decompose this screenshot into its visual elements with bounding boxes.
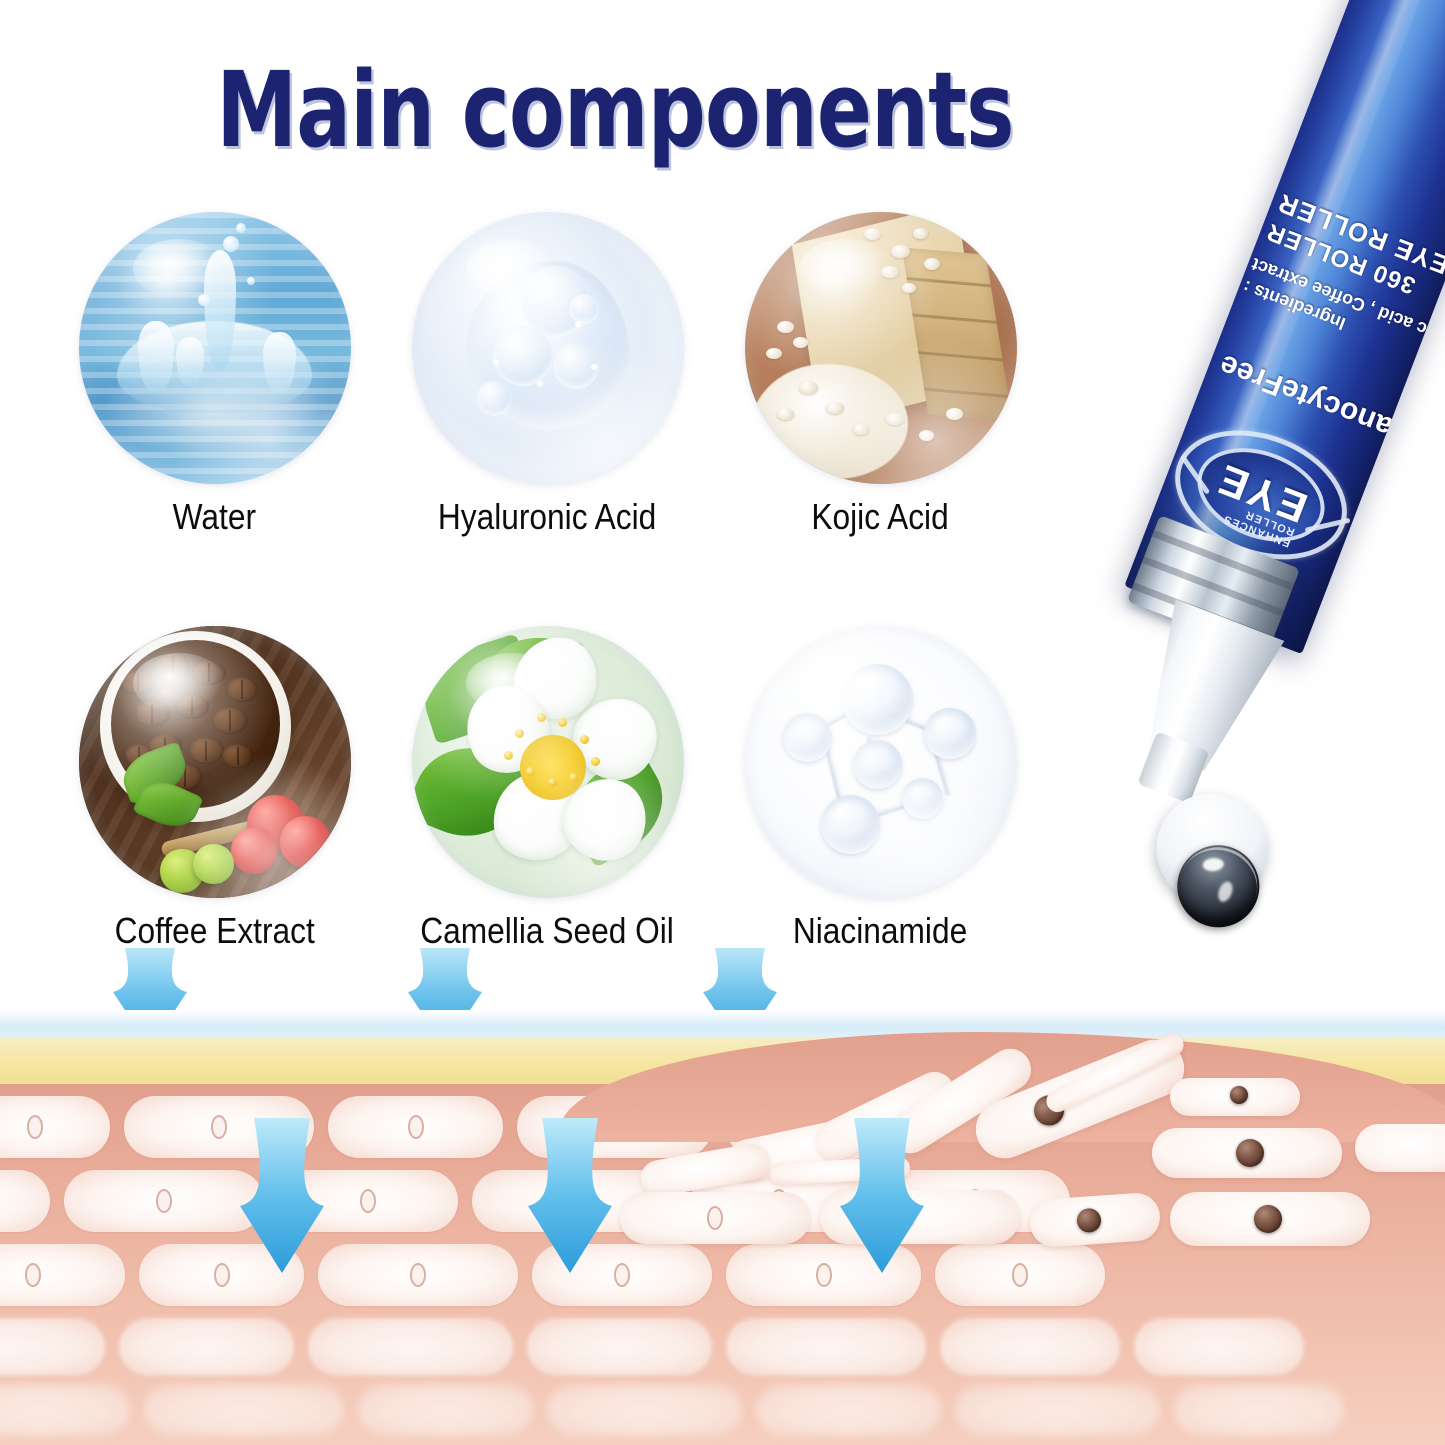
ingredient-grid: Water bbox=[48, 212, 1048, 952]
dermis-layer bbox=[0, 1084, 1445, 1445]
disordered-cell bbox=[1170, 1192, 1370, 1246]
ingredient-item-camellia-seed-oil[interactable]: Camellia Seed Oil bbox=[381, 626, 714, 952]
melanin-spot bbox=[1230, 1086, 1248, 1104]
ingredient-item-hyaluronic-acid[interactable]: Hyaluronic Acid bbox=[381, 212, 714, 538]
penetration-arrow-deep-3 bbox=[828, 1118, 938, 1278]
ingredient-row-2: Coffee Extract bbox=[48, 626, 1048, 952]
ingredient-label: Camellia Seed Oil bbox=[421, 910, 675, 952]
skin-cross-section-diagram bbox=[0, 1010, 1445, 1445]
ingredient-item-water[interactable]: Water bbox=[48, 212, 381, 538]
disordered-cell bbox=[620, 1192, 810, 1244]
ingredient-label: Hyaluronic Acid bbox=[438, 496, 656, 538]
gel-droplet-bubble bbox=[412, 212, 684, 484]
ingredient-label: Coffee Extract bbox=[114, 910, 314, 952]
melanin-spot bbox=[1236, 1139, 1264, 1167]
cell-row bbox=[0, 1384, 1344, 1436]
camellia-flower-bubble bbox=[412, 626, 684, 898]
applicator-neck bbox=[1102, 598, 1288, 825]
ingredient-row-1: Water bbox=[48, 212, 1048, 538]
ingredient-item-coffee-extract[interactable]: Coffee Extract bbox=[48, 626, 381, 952]
disordered-cell bbox=[1170, 1078, 1300, 1116]
penetration-arrow-deep-2 bbox=[516, 1118, 626, 1278]
disordered-cell bbox=[1152, 1128, 1342, 1178]
coffee-beans-bubble bbox=[79, 626, 351, 898]
penetration-arrow-deep-1 bbox=[228, 1118, 338, 1278]
cell-row bbox=[0, 1318, 1304, 1376]
water-splash-bubble bbox=[79, 212, 351, 484]
melanin-spot bbox=[1254, 1205, 1282, 1233]
melanin-spot bbox=[1076, 1208, 1102, 1234]
ingredient-label: Water bbox=[173, 496, 256, 538]
disordered-cell bbox=[1028, 1192, 1161, 1249]
disordered-cell bbox=[1355, 1124, 1445, 1172]
product-eye-roller[interactable]: EYE ROLLER 360 ROLLER Hyaluronic acid , … bbox=[900, 0, 1445, 1060]
infographic-canvas: Main components bbox=[0, 0, 1445, 1445]
